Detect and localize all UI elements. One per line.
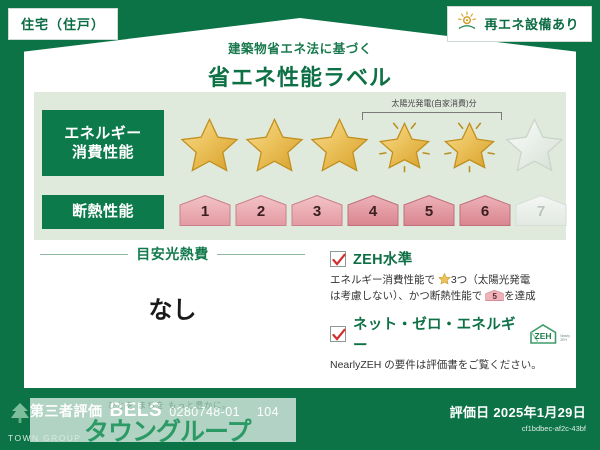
insulation-grade-1: 1 [178,194,232,227]
inline-grade-value: 5 [485,291,504,303]
check-header-zeh-level: ZEH水準 [330,248,570,269]
svg-text:ZEH: ZEH [535,331,552,341]
insulation-grade-5-value: 5 [402,203,456,220]
building-type-label: 住宅（住戸） [21,17,105,32]
gold-star-icon [438,272,451,285]
insulation-grade-4: 4 [346,194,400,227]
insulation-performance-label: 断熱性能 [42,195,164,229]
footer-certification-info: 第三者評価 BELS 0280748-01 104 [30,400,279,422]
third-party-evaluation-label: 第三者評価 [30,401,103,421]
building-type-tag: 住宅（住戸） [8,8,118,40]
insulation-grade-4-value: 4 [346,203,400,220]
energy-performance-row: エネルギー 消費性能 太陽光発電(自家消費)分 [34,100,566,186]
zeh-logo-tiny-text: Nearly ZEH [560,335,570,344]
check-desc-zeh-level: エネルギー消費性能で 3つ（太陽光発電 は考慮しない）、かつ断熱性能で 5 を達… [330,272,570,305]
check-item-net-zero-energy: ネット・ゼロ・エネルギー ZEH Nearly ZEH NearlyZEH の要… [330,313,570,374]
insulation-grade-3: 3 [290,194,344,227]
label-footer: 第三者評価 BELS 0280748-01 104 評価日 2025年1月29日… [0,388,600,450]
label-hash: cf1bdbec-af2c-43bf [450,424,586,433]
inline-insulation-grade-badge: 5 [485,289,504,302]
insulation-grade-6-value: 6 [458,203,512,220]
certificate-number: 0280748-01 [169,405,240,419]
star-filled-1 [178,114,241,174]
estimated-cost-heading: 目安光熱費 [40,244,305,264]
heading-rule-right [217,254,305,255]
insulation-grade-5: 5 [402,194,456,227]
energy-rating-area: 太陽光発電(自家消費)分 [164,100,566,186]
star-filled-solar-5 [438,114,501,174]
insulation-grade-7-value: 7 [514,203,568,220]
energy-performance-label: 住宅（住戸） 再エネ設備あり 建築物省エネ法に基づく 省エネ性能ラベル [0,0,600,450]
checkbox-zeh-level[interactable] [330,251,346,267]
zeh-desc-part1: エネルギー消費性能で [330,274,435,286]
zeh-logo-tiny-line2: ZEH [560,338,567,342]
footer-date-info: 評価日 2025年1月29日 cf1bdbec-af2c-43bf [450,402,586,433]
extra-code: 104 [257,405,279,419]
check-title-zeh-level: ZEH水準 [353,248,413,269]
renewable-equipment-badge: 再エネ設備あり [447,6,592,42]
star-filled-2 [243,114,306,174]
title-main: 省エネ性能ラベル [0,60,600,92]
star-filled-solar-4 [373,114,436,174]
zeh-desc-part4: を達成 [504,290,536,302]
zeh-house-logo: ZEH Nearly ZEH [528,323,570,345]
energy-label-line1: エネルギー [64,124,142,143]
solar-annotation-text: 太陽光発電(自家消費)分 [354,98,514,109]
estimated-utility-cost-block: 目安光熱費 なし [40,244,305,325]
insulation-grade-scale: 1 2 3 4 [178,194,568,227]
insulation-grade-2-value: 2 [234,203,288,220]
solar-sun-icon [456,11,478,36]
insulation-grade-3-value: 3 [290,203,344,220]
certification-checklist: ZEH水準 エネルギー消費性能で 3つ（太陽光発電 は考慮しない）、かつ断熱性能… [330,248,570,381]
check-item-zeh-level: ZEH水準 エネルギー消費性能で 3つ（太陽光発電 は考慮しない）、かつ断熱性能… [330,248,570,305]
star-filled-3 [308,114,371,174]
red-check-icon [332,328,346,342]
check-title-net-zero-energy: ネット・ゼロ・エネルギー [353,313,518,355]
insulation-grade-1-value: 1 [178,203,232,220]
checkbox-net-zero-energy[interactable] [330,326,346,342]
energy-star-rating [178,114,566,174]
star-empty-6 [503,114,566,174]
red-check-icon [332,253,346,267]
label-title-block: 建築物省エネ法に基づく 省エネ性能ラベル [0,38,600,92]
insulation-grade-2: 2 [234,194,288,227]
insulation-grade-6: 6 [458,194,512,227]
energy-label-line2: 消費性能 [72,143,134,162]
evaluation-date: 評価日 2025年1月29日 [450,402,586,421]
check-desc-net-zero-energy: NearlyZEH の要件は評価書をご覧ください。 [330,358,570,374]
bels-label: BELS [110,400,163,422]
renewable-badge-label: 再エネ設備あり [484,14,579,33]
zeh-desc-part3: は考慮しない）、かつ断熱性能で [330,290,482,302]
estimated-cost-value: なし [40,290,305,325]
insulation-grade-area: 1 2 3 4 [164,192,566,232]
heading-rule-left [40,254,128,255]
metrics-panel: エネルギー 消費性能 太陽光発電(自家消費)分 [34,92,566,240]
insulation-performance-row: 断熱性能 [34,192,566,232]
zeh-desc-part2: 3つ（太陽光発電 [451,274,530,286]
estimated-cost-heading-text: 目安光熱費 [136,244,209,264]
insulation-label-text: 断熱性能 [72,202,134,221]
energy-performance-label: エネルギー 消費性能 [42,110,164,176]
insulation-grade-7: 7 [514,194,568,227]
check-header-net-zero-energy: ネット・ゼロ・エネルギー ZEH Nearly ZEH [330,313,570,355]
